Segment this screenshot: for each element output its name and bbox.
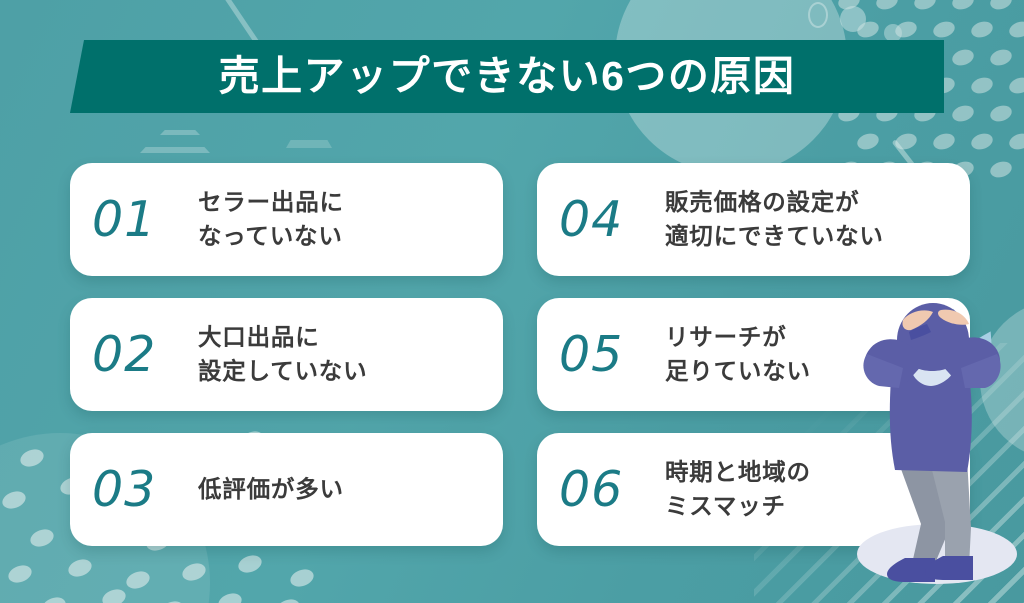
card-text: リサーチが 足りていない [665,321,811,388]
reason-card-01[interactable]: 01セラー出品に なっていない [70,163,503,276]
card-text: 時期と地域の ミスマッチ [665,456,811,523]
reason-card-06[interactable]: 06時期と地域の ミスマッチ [537,433,970,546]
card-text: 大口出品に 設定していない [198,321,367,388]
card-number: 06 [559,465,665,514]
card-text: セラー出品に なっていない [198,186,344,253]
reason-card-02[interactable]: 02大口出品に 設定していない [70,298,503,411]
decor-ring-small [808,2,828,28]
decor-trapezoid-b [140,147,210,153]
decor-trapezoid-c [286,140,332,148]
decor-circle-small-a [840,6,866,32]
decor-trapezoid-a [160,130,200,135]
reason-card-03[interactable]: 03低評価が多い [70,433,503,546]
card-number: 01 [92,195,198,244]
infographic-slide: 売上アップできない6つの原因 01セラー出品に なっていない04販売価格の設定が… [0,0,1024,603]
decor-circle-mid-right [980,300,1024,460]
card-number: 04 [559,195,665,244]
page-title: 売上アップできない6つの原因 [219,56,796,97]
decor-circle-small-b [884,24,902,42]
card-number: 03 [92,465,198,514]
reason-card-04[interactable]: 04販売価格の設定が 適切にできていない [537,163,970,276]
card-text: 低評価が多い [198,473,344,506]
title-banner: 売上アップできない6つの原因 [70,40,944,113]
card-text: 販売価格の設定が 適切にできていない [665,186,884,253]
card-number: 02 [92,330,198,379]
card-number: 05 [559,330,665,379]
reason-card-05[interactable]: 05リサーチが 足りていない [537,298,970,411]
reason-card-grid: 01セラー出品に なっていない04販売価格の設定が 適切にできていない02大口出… [70,163,970,546]
